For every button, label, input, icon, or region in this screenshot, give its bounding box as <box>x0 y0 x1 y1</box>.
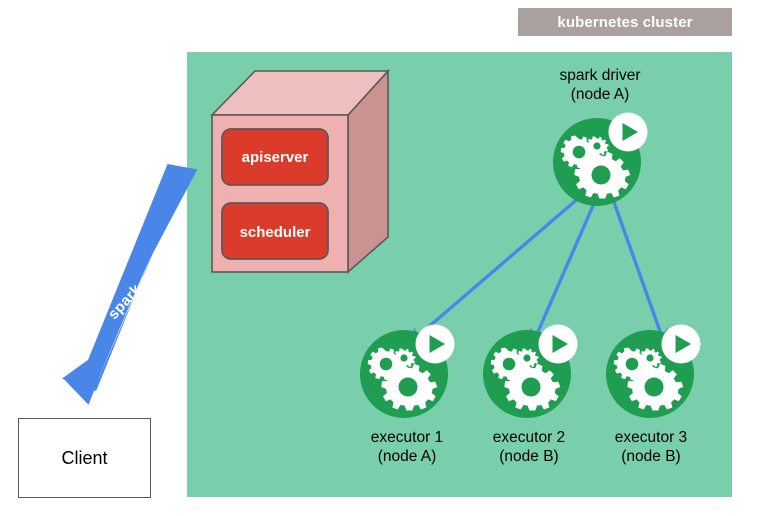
executor-2-label: executor 2 (node B) <box>459 428 599 466</box>
kubernetes-cluster-banner: kubernetes cluster <box>518 8 732 36</box>
executor-1-label: executor 1 (node A) <box>337 428 477 466</box>
kubernetes-cluster-label: kubernetes cluster <box>557 14 692 31</box>
client-label: Client <box>61 448 107 469</box>
scheduler-label: scheduler <box>216 208 334 256</box>
client-box[interactable]: Client <box>18 418 151 498</box>
spark-driver-label: spark driver (node A) <box>516 66 684 104</box>
executor-3-label: executor 3 (node B) <box>581 428 721 466</box>
spark-on-kubernetes-diagram: kubernetes cluster Client apiserver sche… <box>0 0 761 516</box>
apiserver-label: apiserver <box>216 133 334 181</box>
